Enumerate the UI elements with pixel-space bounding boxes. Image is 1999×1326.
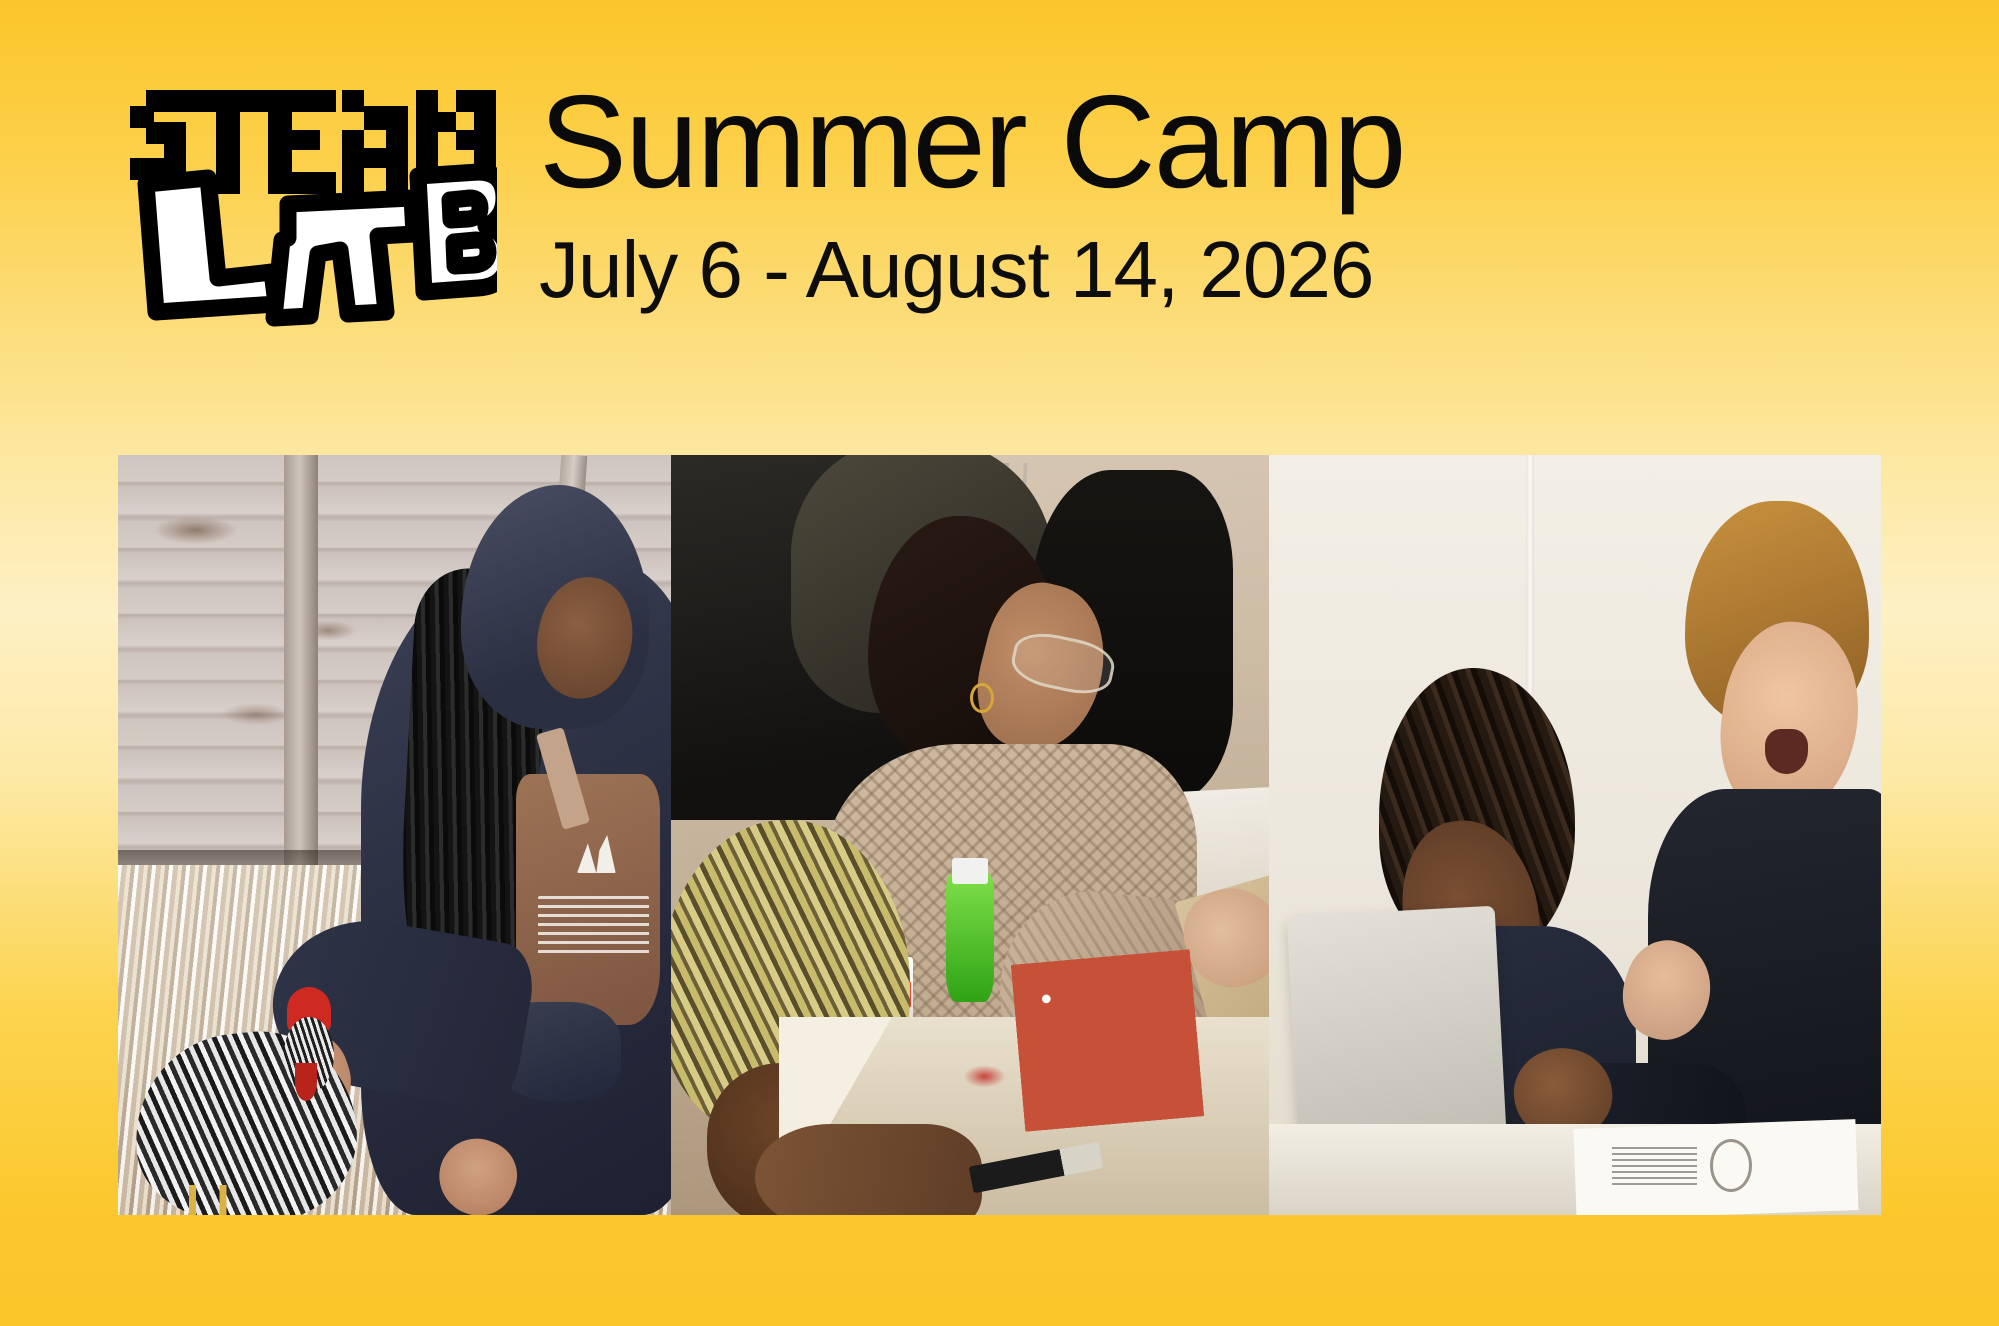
hoop-earring [970, 683, 994, 713]
paper-text-lines [1612, 1147, 1698, 1185]
student-right-mouth [1765, 729, 1808, 775]
photo-laptop-pair: Two students at a desk, one typing on a … [1269, 455, 1881, 1215]
camper-arm [755, 1124, 982, 1215]
camp-dates: July 6 - August 14, 2026 [539, 230, 1405, 310]
steam-lab-logo [112, 72, 497, 337]
page-title: Summer Camp [539, 76, 1405, 208]
laptop-device [1287, 906, 1508, 1160]
chicken-legs [173, 1185, 261, 1215]
lab-wordmark [146, 172, 497, 318]
poster-canvas: Summer Camp July 6 - August 14, 2026 [0, 0, 1999, 1326]
photo-chicken-coop: Teen in navy hooded coat and brown apron… [118, 455, 671, 1215]
photo-chicken-coop-scene [118, 455, 671, 1215]
poster-header: Summer Camp July 6 - August 14, 2026 [112, 72, 1912, 332]
photo-craft-table-scene [671, 455, 1269, 1215]
steam-lab-logo-artwork [112, 72, 497, 337]
sticker-sheet [1011, 949, 1204, 1131]
photo-laptop-pair-scene [1269, 455, 1881, 1215]
green-drink-bottle [946, 873, 994, 1002]
apron-tagline-text [538, 896, 649, 957]
bottle-cap [952, 858, 988, 885]
coop-post [284, 455, 318, 881]
photo-gallery: Teen in navy hooded coat and brown apron… [118, 455, 1881, 1215]
heading-block: Summer Camp July 6 - August 14, 2026 [539, 72, 1405, 310]
chicken-wattle [295, 1063, 317, 1101]
photo-craft-table: Teens at a craft table with glue sticks,… [671, 455, 1269, 1215]
